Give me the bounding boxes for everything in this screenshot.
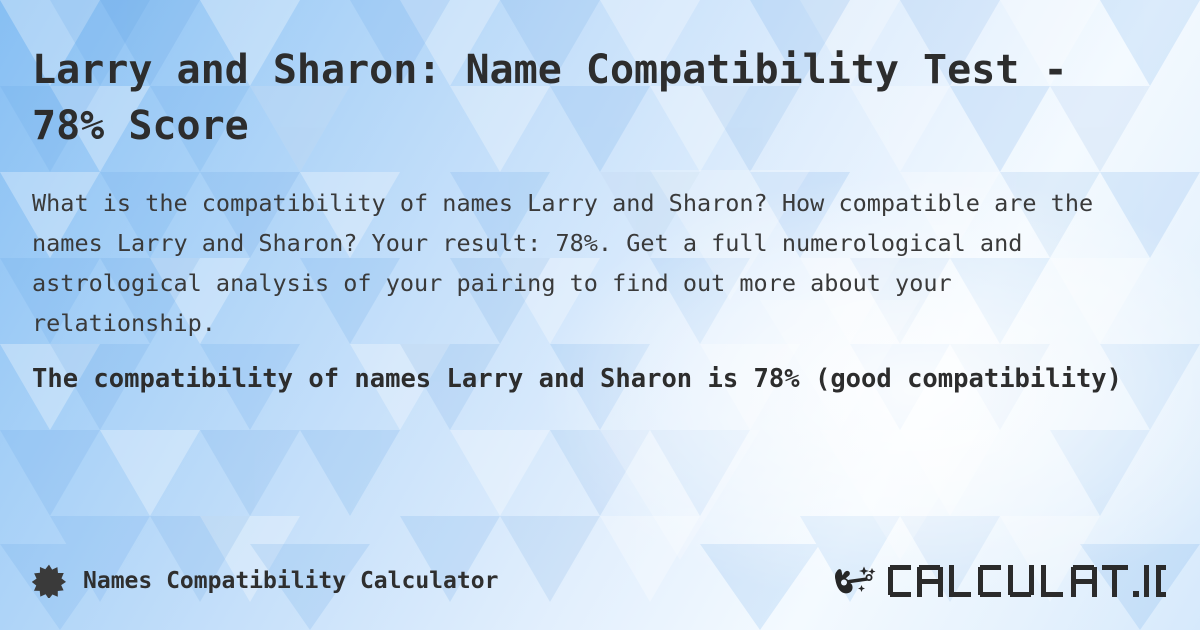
logo-wordmark <box>886 561 1168 601</box>
site-brand-label: Names Compatibility Calculator <box>83 568 498 594</box>
content-area: Larry and Sharon: Name Compatibility Tes… <box>0 0 1200 630</box>
page-title: Larry and Sharon: Name Compatibility Tes… <box>32 42 1142 154</box>
hand-magic-wand-icon <box>834 561 880 601</box>
compatibility-result-card: Larry and Sharon: Name Compatibility Tes… <box>0 0 1200 630</box>
site-brand: Names Compatibility Calculator <box>32 564 498 598</box>
footer: Names Compatibility Calculator <box>32 554 1168 608</box>
calculatio-logo[interactable] <box>834 561 1168 601</box>
starburst-icon <box>32 564 66 598</box>
intro-paragraph: What is the compatibility of names Larry… <box>32 183 1142 343</box>
result-statement: The compatibility of names Larry and Sha… <box>32 357 1142 401</box>
